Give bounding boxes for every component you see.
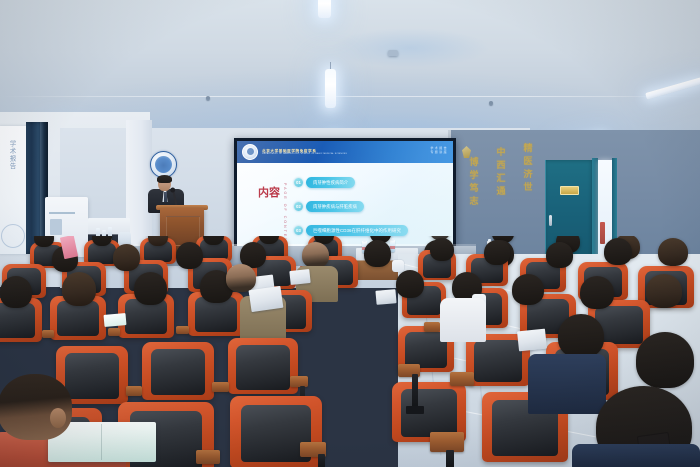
pendant-light-1 [318,0,331,18]
slide-header-meta: 学术报告 专题讲座 [430,146,448,154]
notebook[interactable] [104,313,127,327]
calligraphy-glyph: 西 [491,159,511,172]
calligraphy-glyph: 精 [518,142,538,155]
seat-leg [318,454,325,467]
attendee-head [176,242,203,269]
calligraphy-glyph: 笃 [464,182,484,195]
dispenser-panel [50,219,62,235]
seat [142,342,214,400]
tablet[interactable] [517,329,547,352]
dispenser-trim [49,212,75,214]
attendee-body [572,444,700,467]
calligraphy-column-3: 精 医 济 世 [518,142,538,194]
armrest [42,330,54,338]
seat [228,338,298,394]
seat-leg [446,450,454,467]
attendee-head [646,274,682,308]
agenda-item-1: 01 肉芽肿性疾病简介 [294,177,355,188]
slide-meta-line-2: 专题讲座 [430,150,448,154]
laptop[interactable] [289,269,310,285]
seat-leg [412,374,418,408]
security-camera-icon [388,50,398,56]
curtain-fold [40,122,44,254]
armrest [176,326,189,334]
calligraphy-glyph: 中 [491,146,511,159]
sprinkler-head-1 [206,96,210,100]
ceiling-reflection [330,28,490,68]
armrest [290,376,308,387]
attendee-head [364,240,391,267]
armrest [430,432,464,452]
calligraphy-glyph: 济 [518,168,538,181]
armrest [450,372,474,386]
attendee-head [0,276,32,308]
banner-text: 学术报告 [6,140,16,170]
attendee-body [528,354,606,414]
agenda-item-3: 03 巨噬细胞源性CD36在肝纤维化中的作用研究 [294,225,408,236]
sprinkler-head-2 [489,101,493,105]
lecture-hall-photo: 学术报告 北京大学基础医学院免疫学系 DEPARTMENT OF IMMUNOL… [0,0,700,467]
calligraphy-glyph: 汇 [491,172,511,185]
calligraphy-column-1: 博 学 笃 志 [464,156,484,208]
attendee-head [62,272,96,306]
attendee-head [604,238,632,265]
attendee-head [396,270,424,298]
laptop[interactable] [375,289,396,305]
armrest [212,382,229,392]
calligraphy-column-2: 中 西 汇 通 [491,146,511,198]
slide-header-bar: 北京大学基础医学院免疫学系 DEPARTMENT OF IMMUNOLOGY, … [237,141,453,163]
attendee-head [302,242,329,268]
armrest [196,450,220,464]
agenda-number-1: 01 [294,178,303,187]
audience-area [0,236,700,467]
agenda-label-3: 巨噬细胞源性CD36在肝纤维化中的作用研究 [306,225,408,236]
calligraphy-glyph: 世 [518,181,538,194]
slide-title-cn: 内容 [256,188,282,200]
laptop[interactable] [249,286,284,312]
attendee-head [134,272,167,305]
presenter-tie [164,192,167,202]
attendee-head [558,314,604,358]
attendee-head [636,332,694,388]
presenter-glasses-icon [159,182,170,186]
slide-logo-icon [242,144,258,160]
attendee-head [546,242,573,268]
calligraphy-glyph: 博 [464,156,484,169]
ceiling-seam [0,96,700,97]
calligraphy-glyph: 医 [518,155,538,168]
slide-org-en: DEPARTMENT OF IMMUNOLOGY, SCHOOL OF BASI… [262,153,347,155]
attendee-head [113,244,140,271]
attendee-body [440,298,486,342]
foreground-attendee-ear [50,408,66,428]
attendee-head [580,276,614,309]
university-wall-emblem [150,151,177,178]
armrest [108,328,120,336]
standing-banner: 学术报告 [0,126,28,254]
wall-calligraphy: 博 学 笃 志 中 西 汇 通 精 医 济 世 [462,142,540,222]
face-mask [392,260,404,272]
foreground-attendee-head [0,374,72,440]
slide-organization: 北京大学基础医学院免疫学系 DEPARTMENT OF IMMUNOLOGY, … [262,149,347,156]
armrest [424,322,440,332]
agenda-label-2: 肉芽肿疾病与肝脏疾病 [306,201,364,212]
agenda-item-2: 02 肉芽肿疾病与肝脏疾病 [294,201,364,212]
agenda-number-3: 03 [294,226,303,235]
attendee-head [512,274,544,305]
armrest [126,386,142,396]
attendee-head [658,238,688,266]
calligraphy-glyph: 通 [491,185,511,198]
exit-sign [560,186,579,195]
agenda-label-1: 肉芽肿性疾病简介 [306,177,355,188]
foreground-attendee [0,374,120,467]
pendant-light-2 [325,69,336,108]
calligraphy-glyph: 志 [464,195,484,208]
attendee-head [430,238,454,261]
door-handle[interactable] [549,215,552,226]
agenda-number-2: 02 [294,202,303,211]
seat-foot [406,406,424,414]
attendee-head [226,264,256,292]
calligraphy-glyph: 学 [464,169,484,182]
attendee-head [484,240,510,265]
